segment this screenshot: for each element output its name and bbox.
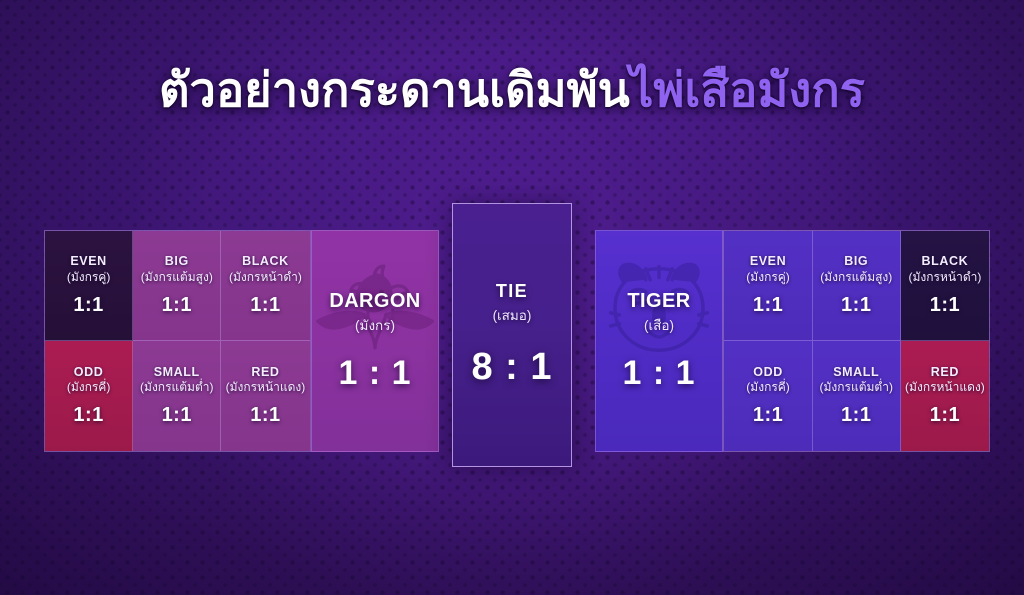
- bet-panel-name-thai: (เสมอ): [493, 304, 532, 326]
- bet-cell-right-big[interactable]: BIG (มังกรแต้มสูง) 1:1: [813, 231, 901, 341]
- bet-cell-right-red[interactable]: RED (มังกรหน้าแดง) 1:1: [901, 341, 989, 451]
- bet-cell-odds: 1:1: [73, 404, 103, 427]
- bet-cell-name: EVEN: [67, 254, 111, 269]
- page-title: ตัวอย่างกระดานเดิมพันไพ่เสือมังกร: [0, 62, 1024, 117]
- bet-cell-name-thai: (มังกรแต้มต่ำ): [820, 380, 893, 394]
- title-accent-text: ไพ่เสือมังกร: [630, 63, 865, 116]
- bet-cell-label: EVEN (มังกรคู่): [67, 254, 111, 284]
- bet-cell-odds: 1:1: [930, 404, 960, 427]
- bet-cell-label: EVEN (มังกรคู่): [746, 254, 790, 284]
- bet-cell-label: BIG (มังกรแต้มสูง): [820, 254, 892, 284]
- bet-panel-odds: 8 : 1: [471, 346, 552, 389]
- bet-cell-name: RED: [226, 365, 306, 380]
- bet-panel-text: TIGER (เสือ) 1 : 1: [622, 290, 695, 393]
- bet-cell-label: RED (มังกรหน้าแดง): [226, 365, 306, 395]
- bet-cell-name: ODD: [67, 365, 111, 380]
- bet-cell-name: RED: [905, 365, 985, 380]
- bet-cell-label: ODD (มังกรคี่): [746, 365, 790, 395]
- bet-panel-dragon[interactable]: DARGON (มังกร) 1 : 1: [311, 230, 440, 452]
- bet-cell-right-even[interactable]: EVEN (มังกรคู่) 1:1: [724, 231, 812, 341]
- bet-cell-right-small[interactable]: SMALL (มังกรแต้มต่ำ) 1:1: [813, 341, 901, 451]
- bet-cell-label: BLACK (มังกรหน้าดำ): [229, 254, 302, 284]
- bet-panel-odds: 1 : 1: [622, 354, 695, 393]
- bet-panel-name: TIGER: [627, 290, 690, 313]
- bet-cell-odds: 1:1: [162, 404, 192, 427]
- bet-cell-name-thai: (มังกรแต้มสูง): [820, 270, 892, 284]
- right-side-bet-grid: EVEN (มังกรคู่) 1:1 BIG (มังกรแต้มสูง) 1…: [723, 230, 990, 452]
- bet-cell-name-thai: (มังกรคู่): [67, 270, 111, 284]
- bet-cell-name-thai: (มังกรหน้าแดง): [226, 380, 306, 394]
- bet-panel-name: TIE: [496, 281, 528, 302]
- bet-cell-name-thai: (มังกรหน้าดำ): [908, 270, 981, 284]
- bet-cell-name-thai: (มังกรคี่): [67, 380, 111, 394]
- bet-cell-name: SMALL: [140, 365, 213, 380]
- bet-cell-odds: 1:1: [841, 404, 871, 427]
- bet-cell-label: SMALL (มังกรแต้มต่ำ): [820, 365, 893, 395]
- title-main-text: ตัวอย่างกระดานเดิมพัน: [159, 63, 630, 116]
- bet-cell-odds: 1:1: [753, 294, 783, 317]
- bet-cell-name-thai: (มังกรคู่): [746, 270, 790, 284]
- bet-cell-left-black[interactable]: BLACK (มังกรหน้าดำ) 1:1: [221, 231, 309, 341]
- bet-cell-odds: 1:1: [250, 294, 280, 317]
- bet-cell-name-thai: (มังกรแต้มสูง): [141, 270, 213, 284]
- bet-cell-name: BIG: [141, 254, 213, 269]
- bet-cell-odds: 1:1: [73, 294, 103, 317]
- bet-panel-odds: 1 : 1: [338, 354, 411, 393]
- bet-cell-left-big[interactable]: BIG (มังกรแต้มสูง) 1:1: [133, 231, 221, 341]
- bet-cell-name: BLACK: [229, 254, 302, 269]
- bet-cell-name-thai: (มังกรหน้าแดง): [905, 380, 985, 394]
- bet-panel-name-thai: (เสือ): [644, 314, 674, 336]
- bet-cell-label: BLACK (มังกรหน้าดำ): [908, 254, 981, 284]
- bet-cell-name-thai: (มังกรหน้าดำ): [229, 270, 302, 284]
- bet-cell-name: ODD: [746, 365, 790, 380]
- bet-cell-name: SMALL: [820, 365, 893, 380]
- bet-cell-name: EVEN: [746, 254, 790, 269]
- bet-panel-text: DARGON (มังกร) 1 : 1: [329, 290, 420, 393]
- bet-cell-name: BIG: [820, 254, 892, 269]
- bet-cell-right-odd[interactable]: ODD (มังกรคี่) 1:1: [724, 341, 812, 451]
- bet-cell-left-red[interactable]: RED (มังกรหน้าแดง) 1:1: [221, 341, 309, 451]
- left-side-bet-grid: EVEN (มังกรคู่) 1:1 BIG (มังกรแต้มสูง) 1…: [44, 230, 311, 452]
- bet-cell-left-even[interactable]: EVEN (มังกรคู่) 1:1: [45, 231, 133, 341]
- bet-panel-name-thai: (มังกร): [355, 314, 395, 336]
- bet-cell-right-black[interactable]: BLACK (มังกรหน้าดำ) 1:1: [901, 231, 989, 341]
- bet-cell-name-thai: (มังกรคี่): [746, 380, 790, 394]
- bet-cell-label: SMALL (มังกรแต้มต่ำ): [140, 365, 213, 395]
- bet-cell-label: RED (มังกรหน้าแดง): [905, 365, 985, 395]
- bet-cell-odds: 1:1: [250, 404, 280, 427]
- bet-cell-name: BLACK: [908, 254, 981, 269]
- bet-panel-tiger[interactable]: TIGER (เสือ) 1 : 1: [595, 230, 724, 452]
- betting-board-graphic: ตัวอย่างกระดานเดิมพันไพ่เสือมังกร EVEN (…: [0, 0, 1024, 595]
- bet-panel-tie[interactable]: TIE (เสมอ) 8 : 1: [452, 203, 572, 467]
- bet-cell-odds: 1:1: [162, 294, 192, 317]
- bet-cell-name-thai: (มังกรแต้มต่ำ): [140, 380, 213, 394]
- bet-panel-name: DARGON: [329, 290, 420, 313]
- bet-cell-odds: 1:1: [841, 294, 871, 317]
- bet-cell-odds: 1:1: [753, 404, 783, 427]
- bet-cell-label: ODD (มังกรคี่): [67, 365, 111, 395]
- bet-cell-label: BIG (มังกรแต้มสูง): [141, 254, 213, 284]
- bet-cell-left-odd[interactable]: ODD (มังกรคี่) 1:1: [45, 341, 133, 451]
- bet-cell-left-small[interactable]: SMALL (มังกรแต้มต่ำ) 1:1: [133, 341, 221, 451]
- bet-cell-odds: 1:1: [930, 294, 960, 317]
